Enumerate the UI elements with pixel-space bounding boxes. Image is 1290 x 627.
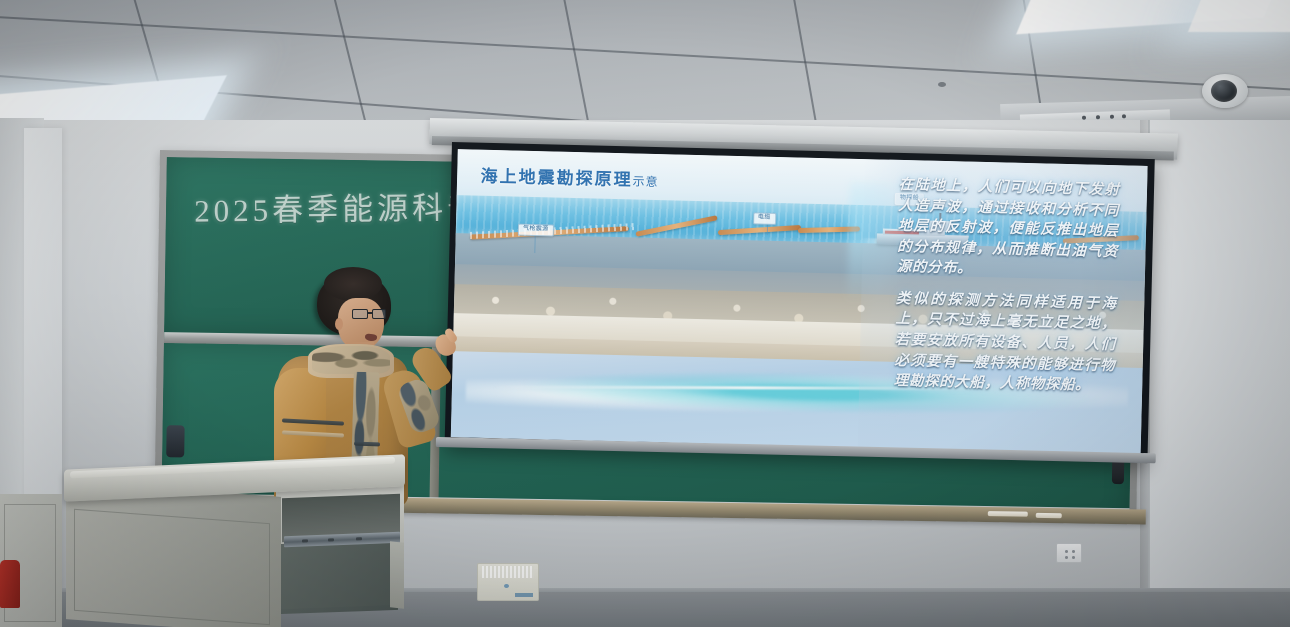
fire-extinguisher [0, 560, 20, 608]
presenter-glasses [352, 309, 390, 320]
lectern-inner-shadow [278, 540, 398, 614]
wall-box-label [515, 593, 533, 597]
presenter-ear [335, 318, 343, 330]
lectern-leg [390, 541, 404, 608]
slide-title: 海上地震勘探原理示意 [480, 161, 659, 190]
slide-paragraph-1: 在陆地上，人们可以向地下发射人造声波，通过接收和分析不同地层的反射波，便能反推出… [896, 175, 1119, 283]
dome-security-camera [1202, 74, 1248, 108]
wall-box-grille [482, 566, 534, 578]
glasses-lens-right [372, 309, 386, 319]
wall-service-box[interactable] [477, 563, 539, 601]
presenter-jacket-stripe [354, 442, 380, 447]
chalk-piece[interactable] [1036, 513, 1062, 518]
chalk-piece[interactable] [988, 511, 1028, 517]
projected-slide: 气枪震源 电缆 物探船 海上地震勘探原理示意 在陆地上，人们可以向地下发射人造声… [451, 149, 1148, 454]
lectern-panel-seam [74, 509, 270, 625]
classroom-scene: 2025春季能源科普 [0, 0, 1290, 627]
blackboard-clamp[interactable] [166, 425, 185, 457]
ceiling-light-panel [1188, 0, 1290, 32]
blackboard-chalk-text: 2025春季能源科普 [194, 182, 483, 231]
glasses-lens-left [352, 309, 368, 319]
slide-title-suffix: 示意 [632, 174, 658, 189]
ceiling-mark [938, 82, 946, 87]
right-wall [1150, 120, 1290, 627]
slide-label-text: 气枪震源 [523, 226, 549, 233]
camera-dome-lens [1211, 80, 1237, 102]
wall-power-outlet[interactable] [1056, 543, 1082, 563]
projection-screen: 气枪震源 电缆 物探船 海上地震勘探原理示意 在陆地上，人们可以向地下发射人造声… [445, 142, 1155, 463]
slide-label-cable: 电缆 [753, 213, 776, 225]
teacher-lectern[interactable] [60, 462, 405, 627]
slide-title-main: 海上地震勘探原理 [480, 166, 632, 189]
slide-paragraph-2: 类似的探测方法同样适用于海上，只不过海上毫无立足之地，若要安放所有设备、人员，人… [894, 289, 1117, 397]
slide-text-column: 在陆地上，人们可以向地下发射人造声波，通过接收和分析不同地层的反射波，便能反推出… [858, 153, 1148, 454]
slide-label-text: 电缆 [758, 215, 771, 221]
presenter-hair-top [324, 267, 382, 301]
wall-box-indicator [504, 584, 509, 588]
presenter-hood-camo-pattern [312, 346, 390, 374]
slide-label-airgun-source: 气枪震源 [518, 224, 554, 236]
